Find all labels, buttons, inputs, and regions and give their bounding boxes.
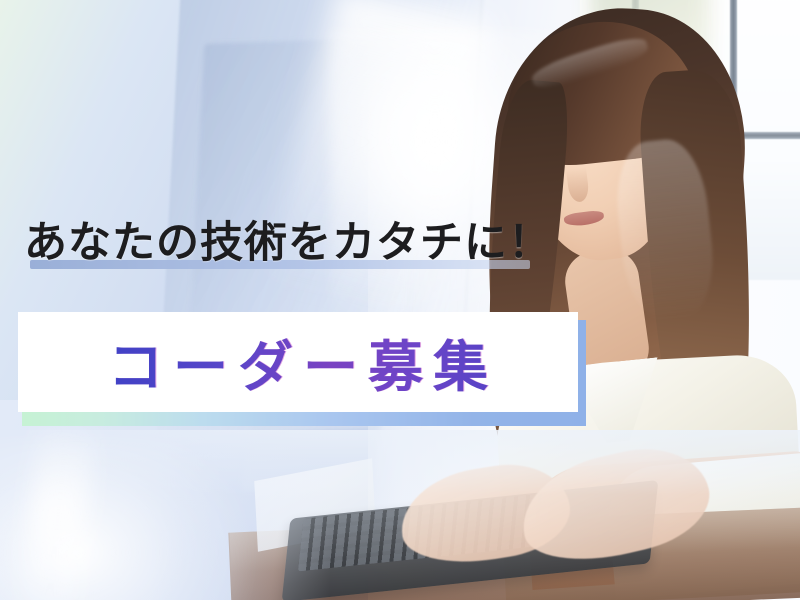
- main-panel: コーダー募集: [18, 312, 578, 412]
- panel-title: コーダー募集: [18, 322, 578, 402]
- recruitment-banner: あなたの技術をカタチに！ コーダー募集: [0, 0, 800, 600]
- headline-block: あなたの技術をカタチに！: [24, 208, 564, 270]
- headline-text: あなたの技術をカタチに！: [24, 208, 552, 270]
